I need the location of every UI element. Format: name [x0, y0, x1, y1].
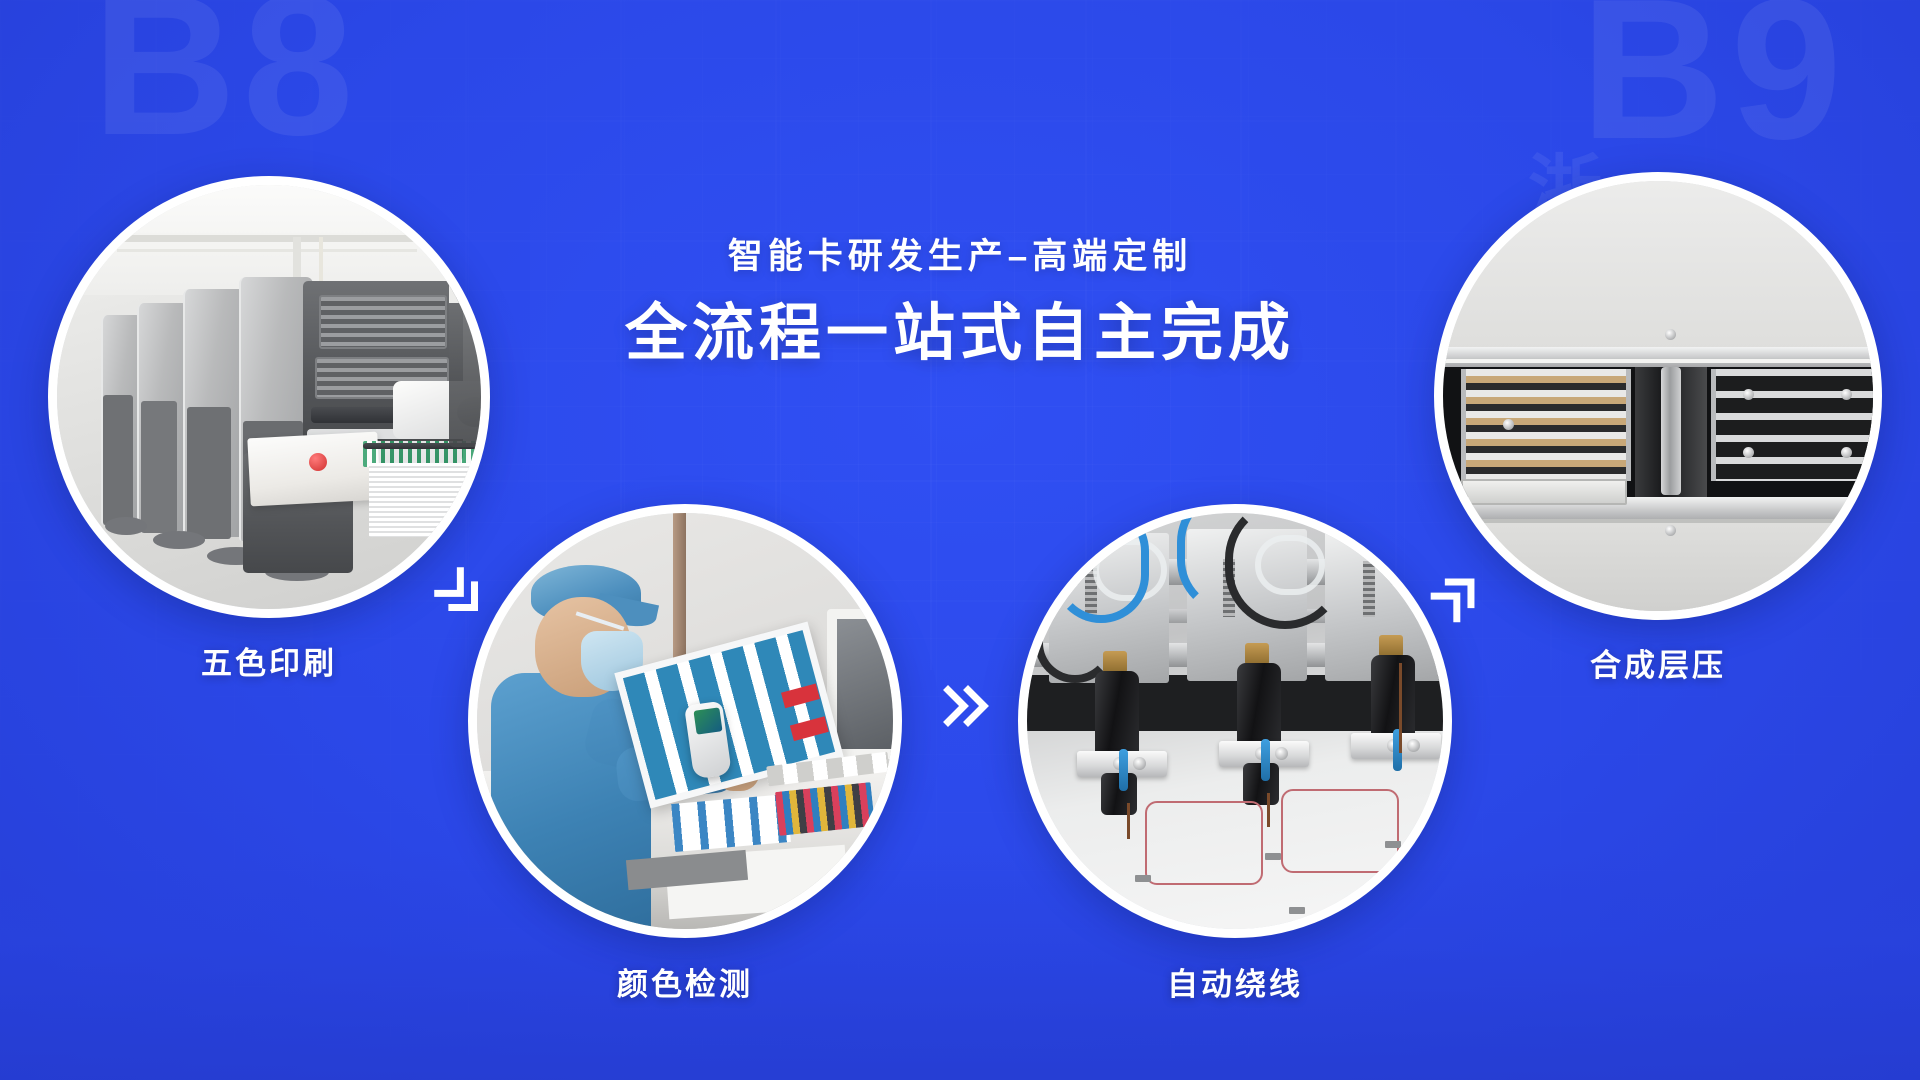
process-step-2-circle[interactable] [468, 504, 902, 938]
watermark-right-b9: B9 [1580, 0, 1848, 170]
watermark-left-b8: B8 [92, 0, 360, 166]
process-step-2-label: 颜色检测 [617, 959, 753, 1004]
arrow-step2-to-step3-icon [938, 678, 994, 739]
background-bottom-fade [0, 850, 1920, 1080]
process-step-1-label: 五色印刷 [201, 638, 337, 683]
process-step-3-circle[interactable] [1018, 504, 1452, 938]
headline-block: 智能卡研发生产–高端定制 全流程一站式自主完成 [0, 236, 1920, 368]
headline-subtitle: 智能卡研发生产–高端定制 [0, 236, 1920, 278]
process-step-2[interactable]: 颜色检测 [468, 504, 902, 938]
headline-title: 全流程一站式自主完成 [0, 300, 1920, 368]
automatic-coil-winding-machine-photo [1027, 513, 1443, 929]
process-step-4-label: 合成层压 [1590, 640, 1726, 685]
process-step-3[interactable]: 自动绕线 [1018, 504, 1452, 938]
process-step-3-label: 自动绕线 [1167, 959, 1303, 1004]
poster-stage: B8 B9 浙 智能卡研发生产–高端定制 全流程一站式自主完成 [0, 0, 1920, 1080]
color-inspection-operator-photo [477, 513, 893, 929]
